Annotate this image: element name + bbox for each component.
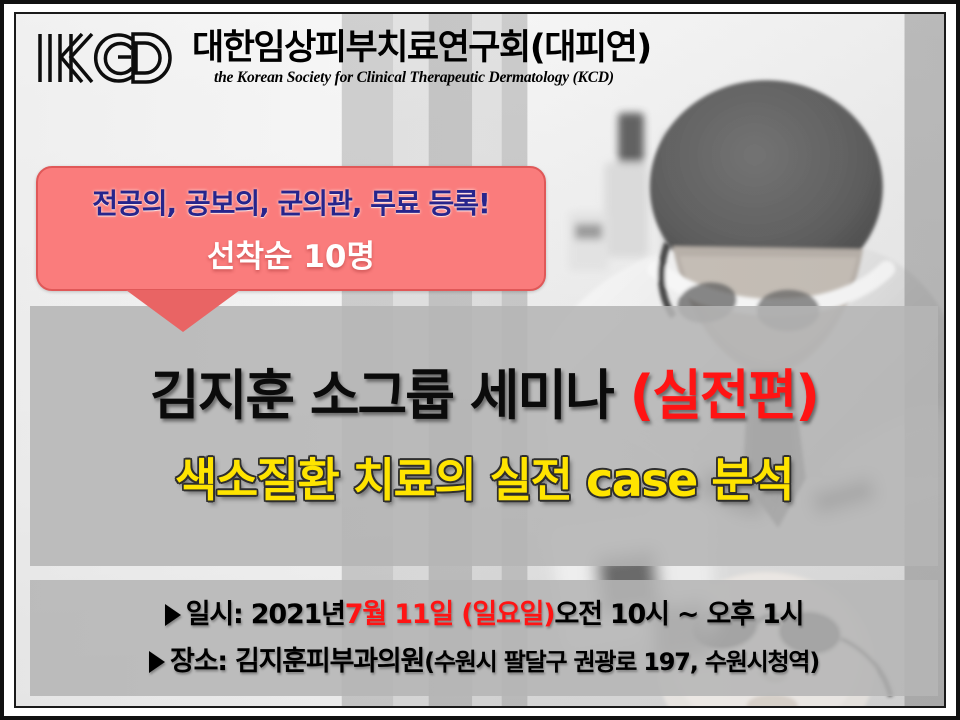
seminar-title: 김지훈 소그룹 세미나 (실전편) <box>150 369 818 423</box>
event-info-panel: 일시: 2021년 7월 11일 (일요일) 오전 10시 ~ 오후 1시 장소… <box>30 580 938 696</box>
poster-header: 대한임상피부치료연구회(대피연) the Korean Society for … <box>16 14 944 102</box>
org-name-block: 대한임상피부치료연구회(대피연) the Korean Society for … <box>192 31 651 86</box>
callout-pointer-tail <box>126 290 240 332</box>
event-time-text: 오전 10시 ~ 오후 1시 <box>554 601 803 628</box>
triangle-bullet-icon <box>165 604 181 626</box>
org-name-korean: 대한임상피부치료연구회(대피연) <box>192 31 651 66</box>
event-place-label: 장소: 김지훈피부과의원 <box>170 648 424 675</box>
org-name-english: the Korean Society for Clinical Therapeu… <box>214 70 651 86</box>
poster-root: 대한임상피부치료연구회(대피연) the Korean Society for … <box>0 0 960 720</box>
event-date-label: 일시: 2021년 <box>186 601 345 628</box>
event-place-address: (수원시 팔달구 권광로 197, 수원시청역) <box>424 650 819 674</box>
seminar-subtitle: 색소질환 치료의 실전 case 분석 <box>175 457 793 503</box>
seminar-title-main: 김지훈 소그룹 세미나 <box>150 364 630 427</box>
event-date-line: 일시: 2021년 7월 11일 (일요일) 오전 10시 ~ 오후 1시 <box>165 601 804 628</box>
kcd-logo-icon <box>30 27 180 89</box>
event-date-accent: 7월 11일 (일요일) <box>345 601 555 628</box>
free-registration-callout: 전공의, 공보의, 군의관, 무료 등록! 선착순 10명 <box>36 166 546 291</box>
seminar-title-accent: (실전편) <box>630 364 818 427</box>
callout-capacity-text: 선착순 10명 <box>38 231 544 276</box>
callout-eligibility-text: 전공의, 공보의, 군의관, 무료 등록! <box>38 182 544 222</box>
poster-inner-frame: 대한임상피부치료연구회(대피연) the Korean Society for … <box>14 12 946 708</box>
title-panel: 김지훈 소그룹 세미나 (실전편) 색소질환 치료의 실전 case 분석 <box>30 306 938 566</box>
triangle-bullet-icon <box>149 651 165 673</box>
event-place-line: 장소: 김지훈피부과의원 (수원시 팔달구 권광로 197, 수원시청역) <box>149 648 819 675</box>
